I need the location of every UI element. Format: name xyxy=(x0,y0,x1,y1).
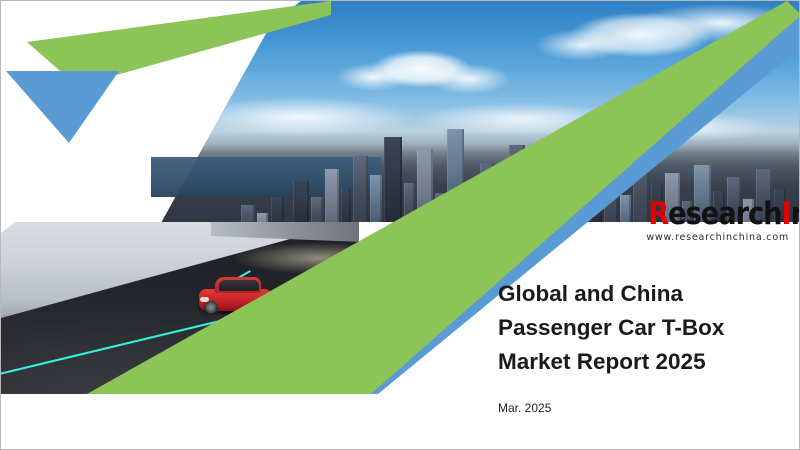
report-cover-page: ResearchInChina www.researchinchina.com … xyxy=(0,0,800,450)
logo-wordmark: ResearchInChina xyxy=(648,199,789,230)
title-line-3: Market Report 2025 xyxy=(498,345,798,379)
logo-seg-1: esearch xyxy=(668,196,781,232)
logo-seg-2: I xyxy=(781,196,790,232)
logo-website-url[interactable]: www.researchinchina.com xyxy=(629,232,789,243)
white-mask-bottom xyxy=(1,394,800,450)
title-line-2: Passenger Car T-Box xyxy=(498,311,798,345)
car-windshield xyxy=(219,280,259,291)
logo-block[interactable]: ResearchInChina www.researchinchina.com xyxy=(629,199,789,243)
logo-seg-0: R xyxy=(648,196,668,232)
logo-seg-3: n xyxy=(791,196,800,232)
publication-date: Mar. 2025 xyxy=(498,401,551,415)
report-title: Global and China Passenger Car T-Box Mar… xyxy=(498,277,798,379)
title-line-1: Global and China xyxy=(498,277,798,311)
car-rear-wheel xyxy=(204,301,218,315)
